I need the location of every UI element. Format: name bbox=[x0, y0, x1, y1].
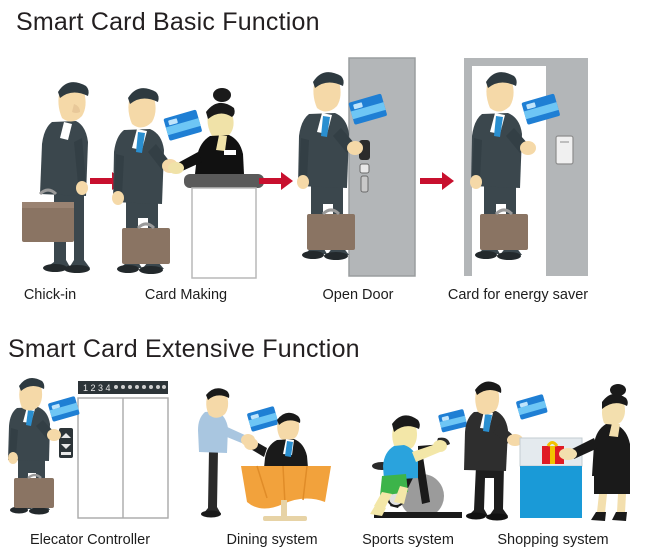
shoes bbox=[201, 511, 221, 518]
hand bbox=[559, 448, 577, 460]
heel-right bbox=[612, 512, 627, 521]
shoe-right bbox=[139, 266, 163, 274]
leg-right bbox=[617, 494, 626, 513]
scene-elevator: 1 2 3 4 bbox=[4, 378, 172, 523]
skirt bbox=[594, 476, 630, 494]
lock-indicator bbox=[360, 164, 369, 173]
caption-elevator: Elecator Controller bbox=[30, 532, 150, 548]
briefcase bbox=[307, 214, 355, 250]
legs bbox=[468, 466, 508, 516]
scene-card-making bbox=[104, 78, 264, 278]
shoe-left bbox=[302, 251, 324, 259]
smart-card bbox=[48, 396, 80, 422]
hand bbox=[433, 440, 447, 452]
hand-lowered bbox=[112, 191, 124, 205]
briefcase-handle bbox=[28, 475, 41, 478]
scene-check-in bbox=[14, 62, 109, 277]
hand-raised bbox=[47, 429, 61, 441]
shoe-right bbox=[29, 508, 49, 515]
shoe-right bbox=[324, 252, 348, 260]
hand bbox=[76, 181, 88, 195]
door-handle[interactable] bbox=[361, 176, 368, 192]
businessman-walking bbox=[22, 82, 90, 273]
shoe-left bbox=[475, 251, 497, 259]
hand-lowered bbox=[297, 175, 309, 189]
shoe-left bbox=[117, 265, 139, 273]
briefcase bbox=[122, 228, 170, 264]
caption-sports: Sports system bbox=[362, 532, 454, 548]
hand bbox=[244, 438, 258, 450]
scene-energy-saver bbox=[450, 58, 590, 278]
smart-card bbox=[247, 406, 279, 432]
hand bbox=[168, 162, 184, 174]
hand-raised bbox=[347, 141, 363, 155]
businessman-figure bbox=[8, 378, 61, 515]
section-title-basic: Smart Card Basic Function bbox=[16, 8, 320, 37]
hair-bun bbox=[213, 88, 231, 102]
shoe-left bbox=[43, 264, 67, 272]
section-title-extensive: Smart Card Extensive Function bbox=[8, 335, 360, 364]
button-slot bbox=[61, 452, 71, 455]
caption-shopping: Shopping system bbox=[497, 532, 608, 548]
shoe-right bbox=[64, 265, 90, 273]
scene-open-door bbox=[285, 58, 415, 278]
customer-figure bbox=[464, 381, 523, 520]
hand-raised bbox=[520, 141, 536, 155]
scene-shopping bbox=[458, 382, 654, 524]
smart-card bbox=[163, 110, 202, 141]
table-base bbox=[263, 516, 307, 521]
briefcase bbox=[480, 214, 528, 250]
counter-front bbox=[192, 188, 256, 278]
hair-bun bbox=[610, 384, 626, 396]
counter-top bbox=[184, 174, 264, 188]
caption-open-door: Open Door bbox=[323, 287, 394, 303]
caption-energy-saver: Card for energy saver bbox=[448, 287, 588, 303]
shoe-right bbox=[497, 252, 521, 260]
floor-indicator-numbers: 1 2 3 4 bbox=[83, 383, 111, 393]
name-badge bbox=[224, 150, 236, 155]
caption-dining: Dining system bbox=[226, 532, 317, 548]
energy-saver-slot[interactable] bbox=[556, 136, 573, 164]
smart-card bbox=[516, 394, 548, 420]
shoe-right bbox=[486, 514, 508, 521]
hand-lowered bbox=[8, 452, 18, 464]
bike-base bbox=[374, 512, 462, 518]
arrow-3 bbox=[420, 172, 454, 190]
door-panel bbox=[349, 58, 415, 276]
briefcase-lip bbox=[22, 202, 74, 208]
guest-figure bbox=[112, 88, 178, 274]
hand-lowered bbox=[470, 175, 482, 189]
legs bbox=[203, 450, 221, 514]
briefcase-handle bbox=[138, 224, 154, 228]
leg-left bbox=[597, 494, 607, 513]
heel-left bbox=[591, 512, 606, 521]
briefcase-handle bbox=[323, 210, 339, 214]
counter-lower bbox=[520, 466, 582, 518]
scene-dining bbox=[195, 390, 355, 525]
caption-check-in: Chick-in bbox=[24, 287, 76, 303]
briefcase bbox=[14, 478, 54, 508]
shoe-left bbox=[466, 513, 486, 520]
gift-ribbon-vertical bbox=[550, 446, 555, 464]
table-stem bbox=[281, 500, 287, 518]
caption-card-making: Card Making bbox=[145, 287, 227, 303]
